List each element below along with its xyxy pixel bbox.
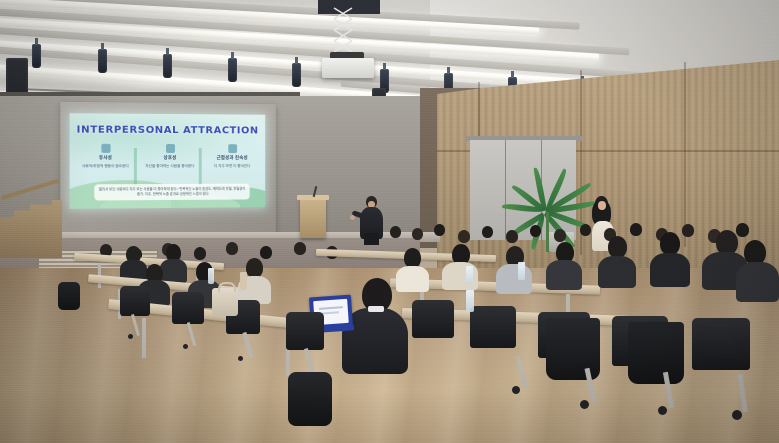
draped-coat	[628, 322, 684, 384]
rolling-chair	[286, 312, 324, 350]
water-bottle	[466, 290, 474, 312]
podium	[300, 198, 326, 238]
audience-head	[530, 225, 541, 237]
chair-caster	[512, 386, 520, 394]
rolling-chair	[470, 306, 516, 348]
audience-head	[482, 226, 493, 238]
audience-head	[660, 232, 680, 255]
audience-head	[260, 246, 272, 259]
rolling-chair	[412, 300, 454, 338]
audience-head	[580, 224, 591, 236]
rolling-chair	[172, 292, 204, 324]
rolling-chair	[120, 286, 150, 316]
slide-column-heading: 상호성	[141, 155, 199, 161]
water-bottle	[518, 262, 525, 280]
audience-torso	[546, 260, 582, 290]
audience-head	[458, 230, 470, 243]
stage-spot-light	[98, 49, 107, 73]
audience-head	[608, 236, 627, 258]
audience-head	[412, 228, 423, 240]
backpack	[288, 372, 332, 426]
presentation-slide: INTERPERSONAL ATTRACTION 유사성 사회적/부정적 행동이…	[70, 113, 266, 209]
shirt-collar	[368, 306, 384, 312]
audience-torso	[496, 264, 532, 294]
slide-column: 상호성 자신을 좋아하는 사람을 좋아한다	[141, 144, 199, 170]
water-bottle	[208, 268, 214, 284]
audience-head	[194, 247, 206, 260]
ceiling-projector	[322, 58, 374, 78]
audience-torso	[736, 262, 779, 302]
assistant-face	[598, 201, 606, 210]
audience-torso	[160, 259, 187, 283]
chair-caster	[238, 356, 243, 361]
stage-spot-light	[163, 54, 172, 78]
chair-caster	[658, 406, 667, 415]
stage-spot-light	[32, 44, 41, 68]
audience-head	[390, 226, 401, 238]
slide-column-heading: 근접성과 친숙성	[204, 155, 261, 161]
backpack	[58, 282, 80, 310]
slide-column-icon	[101, 144, 110, 153]
chair-caster	[128, 334, 133, 339]
audience-head	[226, 242, 238, 255]
audience-head	[554, 229, 566, 242]
audience-head	[682, 224, 694, 237]
desk-leg	[142, 318, 146, 358]
chair-caster	[183, 344, 188, 349]
lecture-hall-photo: INTERPERSONAL ATTRACTION 유사성 사회적/부정적 행동이…	[0, 0, 779, 443]
slide-column-body: 더 자주 보면 더 좋아진다	[204, 164, 261, 169]
water-bottle	[466, 266, 473, 284]
audience-torso	[650, 253, 690, 287]
slide-title: INTERPERSONAL ATTRACTION	[70, 124, 266, 136]
chair-caster	[580, 400, 589, 409]
slide-column-body: 사회적/부정적 행동이 중요한다	[76, 164, 135, 170]
audience-torso	[598, 256, 636, 288]
handbag-handle	[218, 282, 236, 292]
draped-coat	[546, 318, 600, 380]
slide-column-heading: 유사성	[76, 155, 135, 161]
audience-head	[404, 248, 421, 268]
slide-note-box: 멀리서 보인 사람보다 자주 보는 사람을 더 좋아하게 된다 / 반복적인 노…	[94, 183, 249, 200]
audience-head	[506, 230, 518, 243]
slide-column: 근접성과 친숙성 더 자주 보면 더 좋아진다	[204, 144, 261, 169]
audience-head	[294, 242, 306, 255]
slide-column-body: 자신을 좋아하는 사람을 좋아한다	[141, 164, 199, 169]
slide-column-icon	[228, 144, 237, 153]
rolling-chair	[692, 318, 750, 370]
slide-column-icon	[166, 144, 175, 153]
slide-column: 유사성 사회적/부정적 행동이 중요한다	[76, 144, 135, 170]
stage-spot-light	[292, 63, 301, 87]
slide-divider	[199, 148, 202, 186]
chair-caster	[732, 410, 742, 420]
handbag	[212, 288, 238, 316]
stage-spot-light	[228, 58, 237, 82]
audience-torso	[396, 266, 429, 292]
audience-head	[630, 223, 642, 236]
audience-head	[736, 223, 749, 237]
audience-head	[434, 224, 445, 236]
water-bottle	[240, 272, 247, 290]
audience-head	[246, 258, 263, 278]
